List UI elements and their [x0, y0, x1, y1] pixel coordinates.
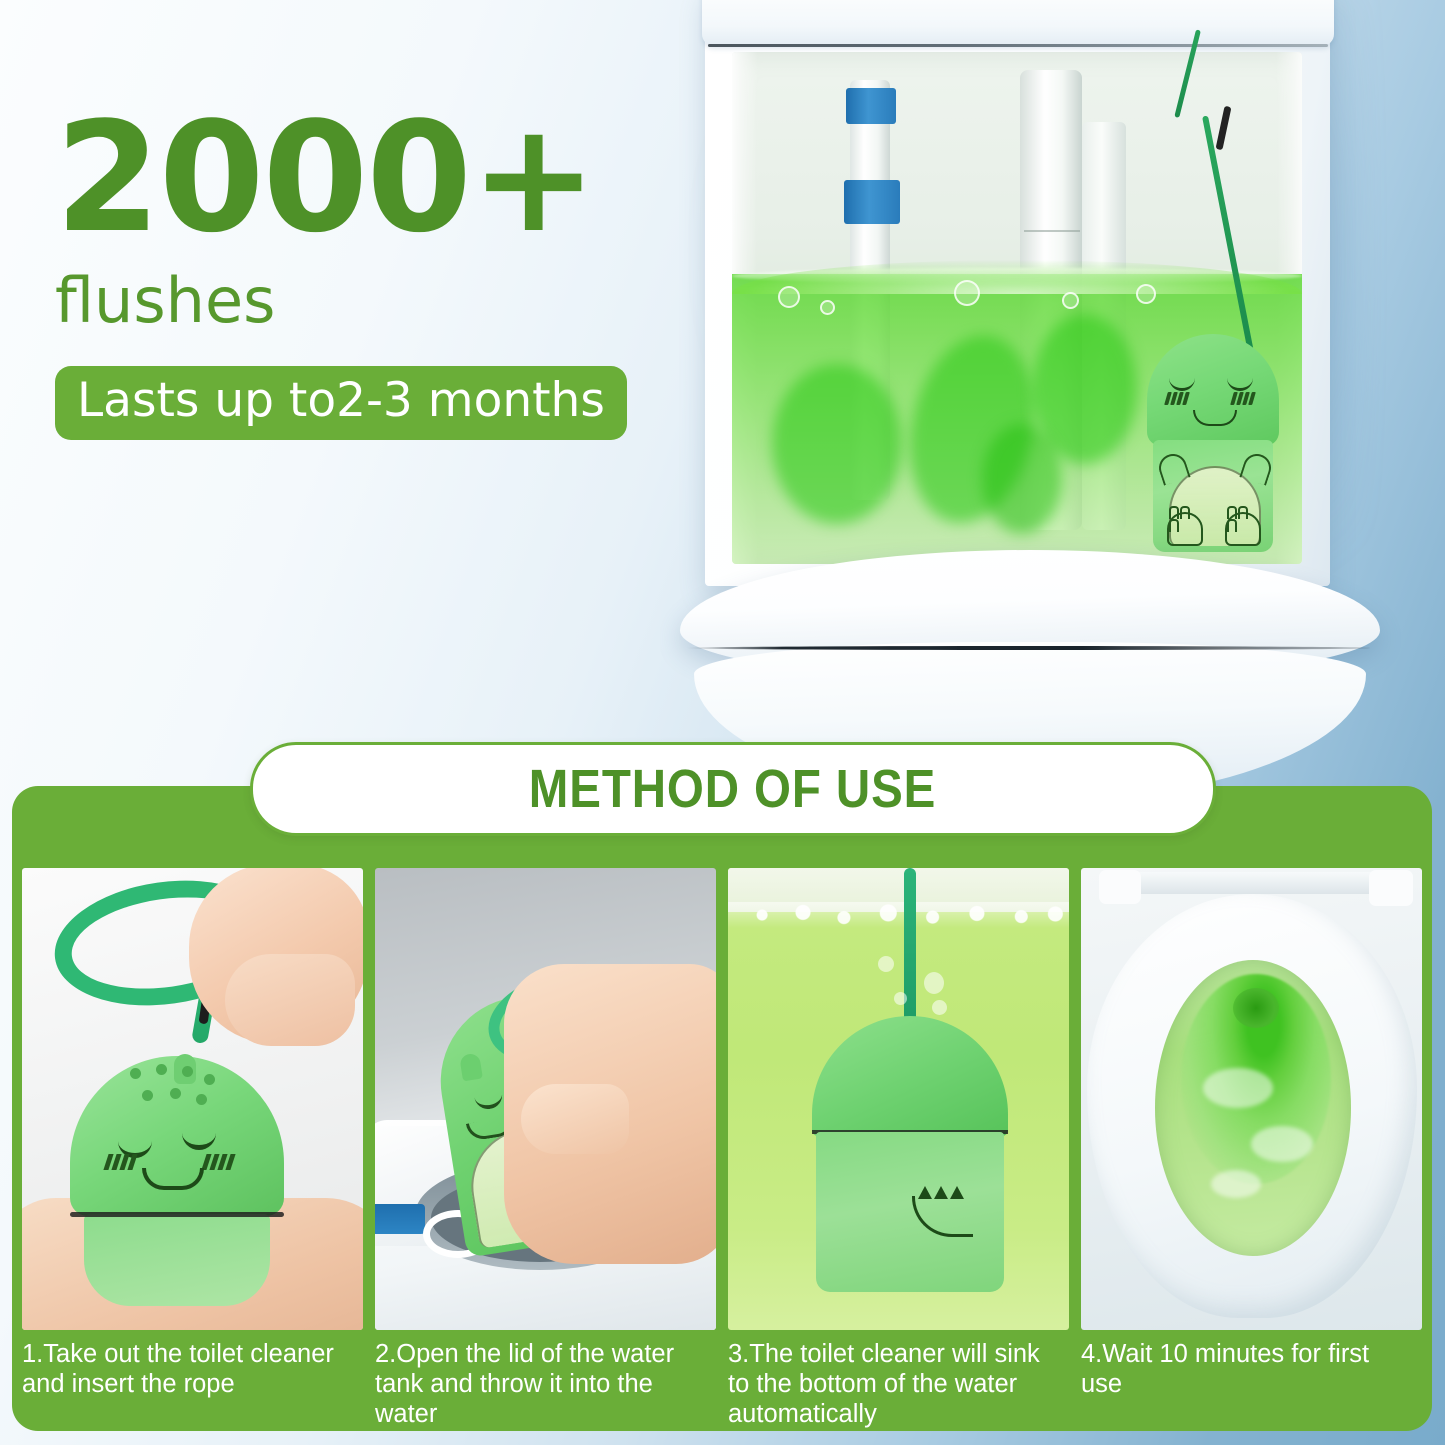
- toilet-bowl-seam: [686, 646, 1370, 650]
- method-of-use-title: METHOD OF USE: [529, 758, 936, 820]
- fill-valve-band-lower: [844, 180, 900, 224]
- fill-valve-band-upper: [846, 88, 896, 124]
- method-step-captions: 1.Take out the toilet cleaner and insert…: [22, 1340, 1422, 1436]
- bubble: [1062, 292, 1079, 309]
- capsule-body: [816, 1132, 1004, 1292]
- capsule-seam: [70, 1212, 284, 1217]
- dye-plume: [982, 424, 1062, 534]
- step-image-2: [375, 868, 716, 1330]
- capsule-vent-holes: [126, 1064, 218, 1106]
- capsule-blush-right: [204, 1154, 236, 1170]
- bubble: [932, 1000, 947, 1015]
- capsule-blush-left: [1165, 392, 1191, 406]
- capsule-head: [1147, 334, 1279, 446]
- bubble: [924, 972, 944, 994]
- bubble: [1136, 284, 1156, 304]
- seat-hinge-left: [1099, 870, 1141, 904]
- step-image-4: [1081, 868, 1422, 1330]
- step-caption-3: 3.The toilet cleaner will sink to the bo…: [728, 1340, 1069, 1436]
- thumb: [225, 954, 355, 1046]
- seat-hinge-bar: [1103, 872, 1403, 894]
- step-caption-2: 2.Open the lid of the water tank and thr…: [375, 1340, 716, 1436]
- capsule-rope: [904, 868, 916, 1030]
- water-vortex: [1233, 988, 1279, 1028]
- dinosaur-cleaner-capsule: [1147, 334, 1279, 552]
- capsule-spikes: [918, 1186, 966, 1199]
- foam-line: [728, 902, 1069, 928]
- method-of-use-title-pill: METHOD OF USE: [250, 742, 1216, 836]
- bubble: [878, 956, 894, 972]
- thumb: [521, 1084, 629, 1154]
- foam: [1203, 1068, 1273, 1108]
- foam: [1251, 1126, 1313, 1162]
- capsule-foot-left: [1167, 512, 1203, 546]
- hero-toilet-tank-image: [660, 0, 1445, 784]
- bubble: [954, 280, 980, 306]
- step-image-3: [728, 868, 1069, 1330]
- bubble: [778, 286, 800, 308]
- method-step-images: [22, 868, 1422, 1330]
- product-infographic: 2000+ flushes Lasts up to2-3 months METH…: [0, 0, 1445, 1445]
- dye-plume: [772, 364, 902, 524]
- capsule-blush-left: [106, 1154, 138, 1170]
- flush-count: 2000+: [55, 108, 695, 248]
- blue-valve-part: [375, 1204, 425, 1234]
- step-caption-4: 4.Wait 10 minutes for first use: [1081, 1340, 1422, 1436]
- duration-badge: Lasts up to2-3 months: [55, 366, 627, 440]
- seat-hinge-right: [1369, 870, 1413, 906]
- cistern-interior: [732, 52, 1302, 564]
- flush-count-label: flushes: [55, 270, 695, 332]
- step-image-1: [22, 868, 363, 1330]
- cistern-lid: [702, 0, 1334, 46]
- step-caption-1: 1.Take out the toilet cleaner and insert…: [22, 1340, 363, 1436]
- foam: [1211, 1170, 1261, 1198]
- capsule-blush-right: [1231, 392, 1257, 406]
- cistern-lid-seam: [708, 44, 1328, 47]
- toilet-bowl-water: [1155, 960, 1351, 1256]
- capsule-body: [84, 1214, 270, 1306]
- bubble: [820, 300, 835, 315]
- capsule-foot-right: [1225, 512, 1261, 546]
- valve-seam: [1024, 230, 1080, 232]
- bubble: [894, 992, 907, 1005]
- capsule-head: [812, 1016, 1008, 1136]
- hero-text-block: 2000+ flushes Lasts up to2-3 months: [55, 108, 695, 440]
- water-surface: [732, 260, 1302, 294]
